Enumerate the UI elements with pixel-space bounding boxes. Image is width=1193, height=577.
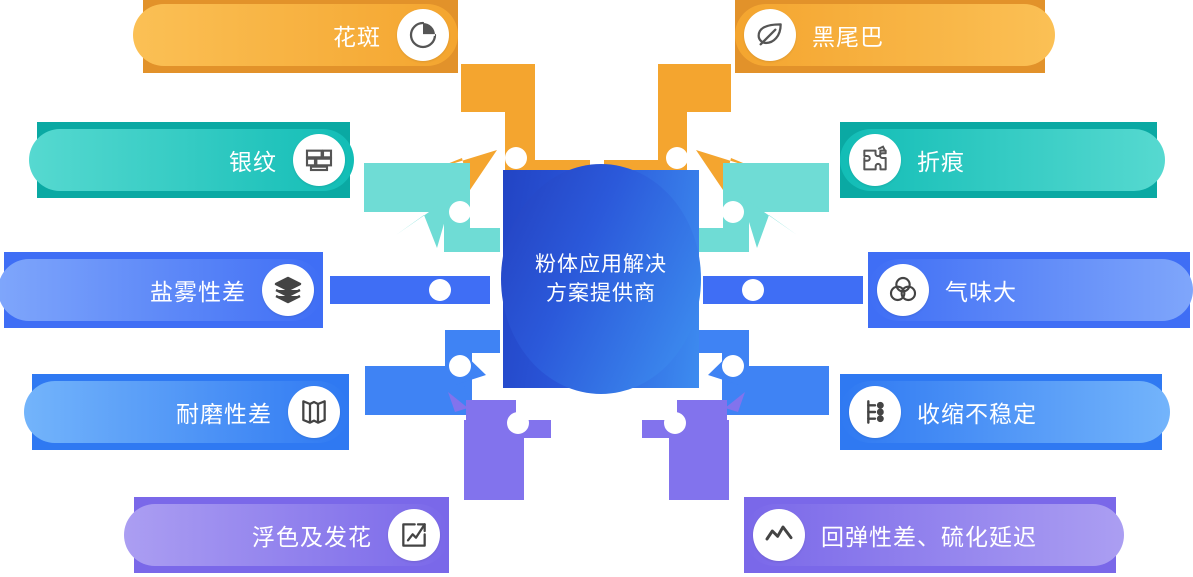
connector-hui-tan-xing-cha bbox=[642, 392, 745, 500]
puzzle-piece-icon bbox=[849, 134, 901, 186]
line-chart-icon bbox=[753, 509, 805, 561]
connector-qi-wei-da bbox=[703, 276, 863, 304]
node-body: 盐雾性差 bbox=[0, 259, 323, 321]
node-label: 收缩不稳定 bbox=[901, 395, 1053, 429]
node-hui-tan-xing-cha[interactable]: 回弹性差、硫化延迟 bbox=[744, 504, 1124, 566]
node-nai-mo-xing-cha[interactable]: 耐磨性差 bbox=[24, 381, 349, 443]
node-body: 花斑 bbox=[133, 4, 458, 66]
node-label: 折痕 bbox=[901, 143, 981, 177]
node-hei-wei-ba[interactable]: 黑尾巴 bbox=[735, 4, 1055, 66]
pie-chart-icon bbox=[397, 9, 449, 61]
node-body: 黑尾巴 bbox=[735, 4, 1055, 66]
infographic-canvas: 粉体应用解决 方案提供商 花斑 bbox=[0, 0, 1193, 577]
center-label-line2: 方案提供商 bbox=[546, 279, 656, 308]
open-book-icon bbox=[288, 386, 340, 438]
node-yan-wu-xing-cha[interactable]: 盐雾性差 bbox=[0, 259, 323, 321]
node-label: 气味大 bbox=[929, 273, 1033, 307]
node-body: 浮色及发花 bbox=[124, 504, 449, 566]
node-hua-ban[interactable]: 花斑 bbox=[133, 4, 458, 66]
node-body: 银纹 bbox=[29, 129, 354, 191]
recycle-icon bbox=[877, 264, 929, 316]
node-body: 回弹性差、硫化延迟 bbox=[744, 504, 1124, 566]
node-body: 气味大 bbox=[868, 259, 1193, 321]
connector-yin-wen bbox=[364, 163, 500, 252]
node-label: 耐磨性差 bbox=[160, 395, 288, 429]
node-qi-wei-da[interactable]: 气味大 bbox=[868, 259, 1193, 321]
leaf-icon bbox=[744, 9, 796, 61]
node-body: 收缩不稳定 bbox=[840, 381, 1170, 443]
node-shou-suo-bu-wen-ding[interactable]: 收缩不稳定 bbox=[840, 381, 1170, 443]
node-body: 耐磨性差 bbox=[24, 381, 349, 443]
node-zhe-hen[interactable]: 折痕 bbox=[840, 129, 1165, 191]
center-label: 粉体应用解决 方案提供商 bbox=[503, 170, 699, 388]
node-label: 花斑 bbox=[317, 18, 397, 52]
trending-up-box-icon bbox=[388, 509, 440, 561]
node-label: 浮色及发花 bbox=[236, 518, 388, 552]
node-label: 黑尾巴 bbox=[796, 18, 900, 52]
connector-fu-se-ji-fa-hua bbox=[448, 392, 551, 500]
connector-yan-wu-xing-cha bbox=[330, 276, 490, 304]
node-label: 回弹性差、硫化延迟 bbox=[805, 518, 1053, 552]
node-body: 折痕 bbox=[840, 129, 1165, 191]
brick-wall-icon bbox=[293, 134, 345, 186]
node-fu-se-ji-fa-hua[interactable]: 浮色及发花 bbox=[124, 504, 449, 566]
node-label: 银纹 bbox=[213, 143, 293, 177]
layers-icon bbox=[262, 264, 314, 316]
node-label: 盐雾性差 bbox=[134, 273, 262, 307]
sitemap-icon bbox=[849, 386, 901, 438]
center-node: 粉体应用解决 方案提供商 bbox=[503, 170, 699, 388]
node-yin-wen[interactable]: 银纹 bbox=[29, 129, 354, 191]
center-label-line1: 粉体应用解决 bbox=[535, 250, 667, 279]
